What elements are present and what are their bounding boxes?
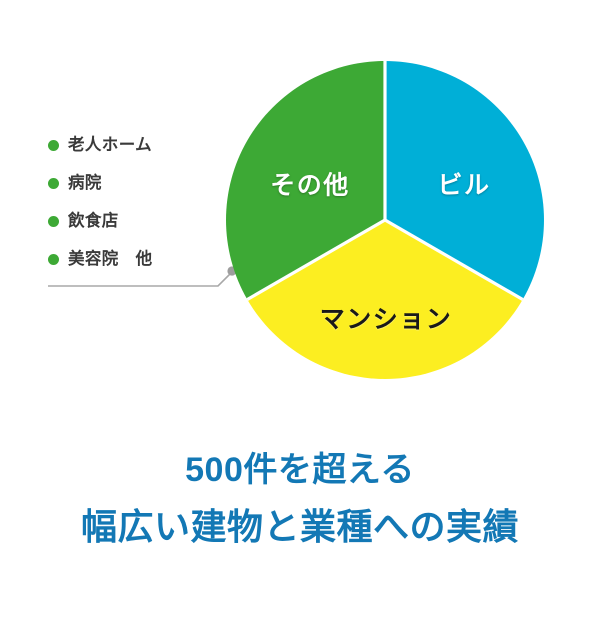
list-item: 飲食店: [48, 202, 228, 240]
legend-item-label: 老人ホーム: [68, 137, 152, 154]
list-item: 病院: [48, 164, 228, 202]
legend-bullet-icon: [48, 178, 59, 189]
caption-line-2: 幅広い建物と業種への実績: [0, 504, 600, 551]
pie-slice-label-mansion: マンション: [320, 308, 453, 333]
legend-leader-line: [40, 258, 250, 298]
legend-bullet-icon: [48, 216, 59, 227]
pie-legend: 老人ホーム 病院 飲食店 美容院 他: [48, 126, 228, 278]
pie-slice-label-biru: ビル: [437, 174, 490, 199]
leader-polyline: [48, 272, 232, 286]
pie-chart-svg: [222, 57, 548, 383]
legend-item-label: 病院: [68, 175, 102, 192]
caption-line-1: 500件を超える: [0, 448, 600, 492]
legend-bullet-icon: [48, 140, 59, 151]
pie-chart: その他 ビル マンション: [222, 57, 548, 383]
caption-block: 500件を超える 幅広い建物と業種への実績: [0, 448, 600, 551]
pie-slice-label-sonota: その他: [270, 174, 350, 199]
infographic-canvas: 老人ホーム 病院 飲食店 美容院 他: [0, 0, 600, 620]
list-item: 老人ホーム: [48, 126, 228, 164]
legend-item-label: 飲食店: [68, 213, 119, 230]
